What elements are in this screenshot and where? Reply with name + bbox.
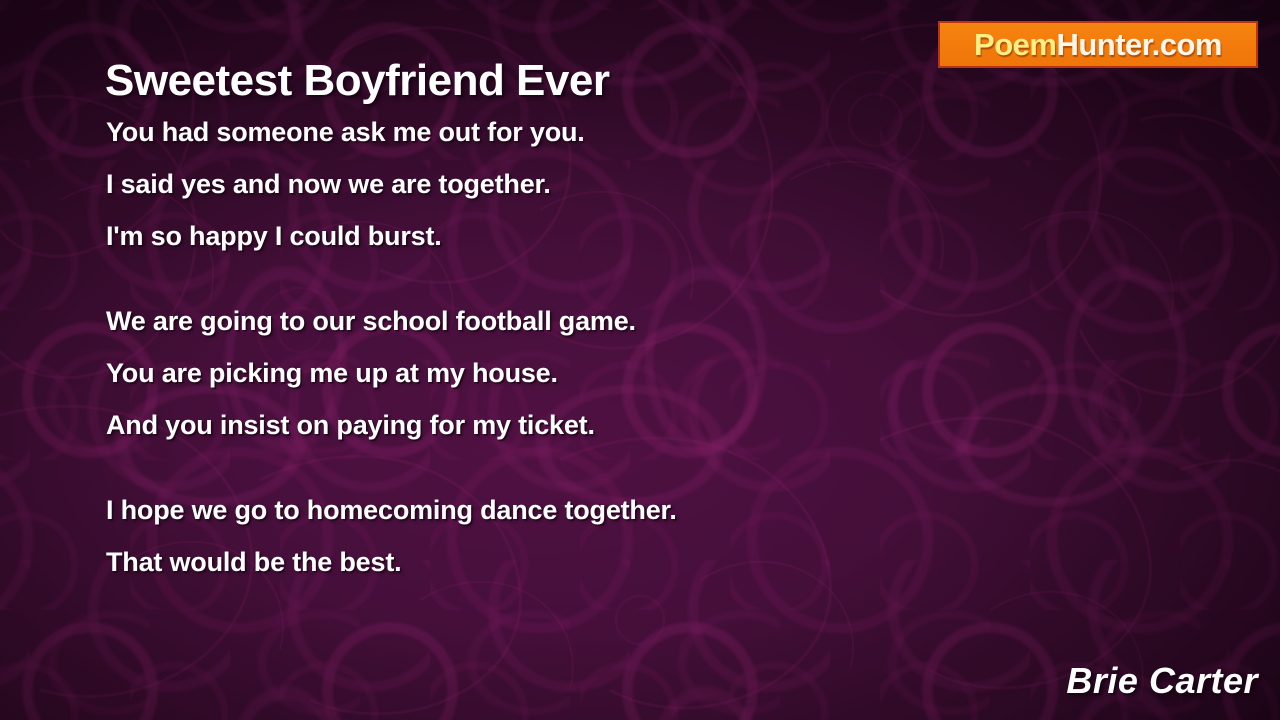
poem-image-card: Sweetest Boyfriend Ever PoemHunter.com Y…	[0, 0, 1280, 720]
poem-body: You had someone ask me out for you. I sa…	[106, 106, 1106, 588]
poem-line: We are going to our school football game…	[106, 295, 1106, 347]
poem-content: Sweetest Boyfriend Ever PoemHunter.com Y…	[0, 0, 1280, 720]
poem-line: I said yes and now we are together.	[106, 158, 1106, 210]
poem-stanza: You had someone ask me out for you. I sa…	[106, 106, 1106, 262]
logo-text-poem: Poem	[974, 27, 1056, 62]
logo-text-hunter: Hunter.com	[1056, 27, 1222, 62]
poem-line: You had someone ask me out for you.	[106, 106, 1106, 158]
poem-author: Brie Carter	[1066, 660, 1258, 702]
page-title: Sweetest Boyfriend Ever	[105, 56, 609, 106]
poem-line: That would be the best.	[106, 536, 1106, 588]
poem-line: And you insist on paying for my ticket.	[106, 399, 1106, 451]
poem-line: You are picking me up at my house.	[106, 347, 1106, 399]
poem-line: I hope we go to homecoming dance togethe…	[106, 484, 1106, 536]
poem-stanza: We are going to our school football game…	[106, 295, 1106, 451]
poem-stanza: I hope we go to homecoming dance togethe…	[106, 484, 1106, 588]
poemhunter-logo[interactable]: PoemHunter.com	[938, 21, 1258, 68]
poem-line: I'm so happy I could burst.	[106, 210, 1106, 262]
poemhunter-logo-text: PoemHunter.com	[974, 27, 1222, 63]
